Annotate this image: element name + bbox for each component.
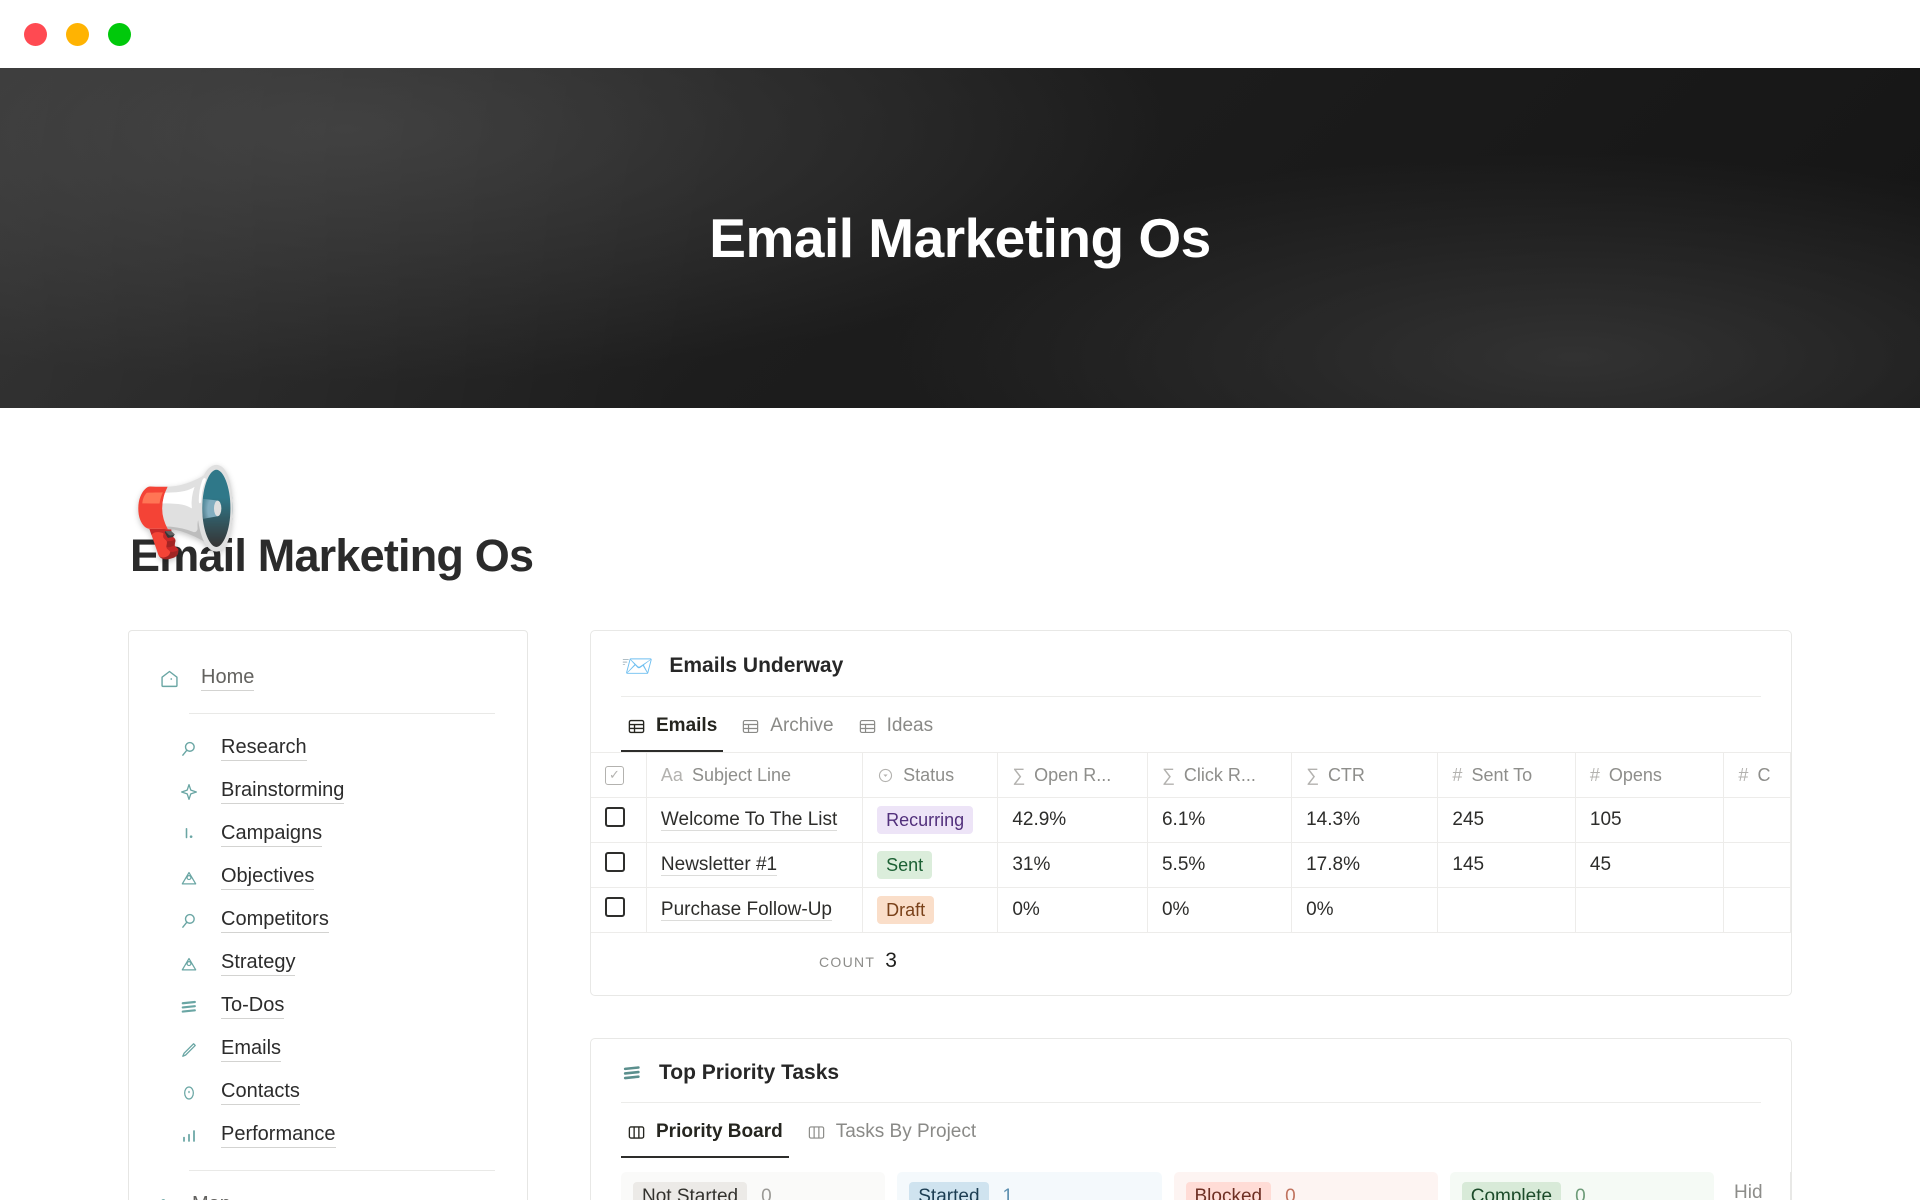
column-opens[interactable]: # Opens [1575,753,1724,798]
sidebar-item-emails[interactable]: Emails [149,1028,527,1071]
board-column-not-started[interactable]: Not Started 0 [621,1172,885,1200]
sidebar-item-brainstorming-label: Brainstorming [221,779,344,804]
cell-click-rate: 5.5% [1147,843,1291,888]
table-view-icon [858,717,877,736]
column-status-label: Status [903,765,954,786]
board-column-count: 1 [1003,1186,1014,1200]
emails-table-header-row: ✓ Aa Subject Line Status [591,753,1791,798]
number-type-icon: # [1590,765,1600,786]
sidebar-item-performance[interactable]: Performance [149,1114,527,1157]
checkbox-header-icon: ✓ [605,766,624,785]
sidebar-divider-bottom [189,1170,495,1171]
mountain-target-icon [178,953,200,975]
sidebar-item-research-label: Research [221,736,307,761]
sidebar-item-map[interactable]: Map [129,1184,527,1200]
main-column: 📨 Emails Underway Emails [590,630,1792,1200]
minimize-button[interactable] [66,23,89,46]
tab-ideas-label: Ideas [887,715,933,737]
status-badge: Recurring [877,806,973,835]
cell-opens [1575,888,1724,933]
page-cover-banner: Email Marketing Os [0,68,1920,408]
board-view-icon [807,1123,826,1142]
cell-sent-to [1438,888,1575,933]
table-view-icon [741,717,760,736]
column-ctr-label: CTR [1328,765,1365,786]
number-type-icon: # [1452,765,1462,786]
tasks-panel-title: Top Priority Tasks [659,1061,839,1085]
sidebar-item-to-dos[interactable]: To-Dos [149,985,527,1028]
column-subject-line-label: Subject Line [692,765,791,786]
tab-emails-label: Emails [656,715,717,737]
tab-tasks-by-project[interactable]: Tasks By Project [801,1113,982,1158]
sidebar-item-objectives[interactable]: Objectives [149,856,527,899]
board-column-count: 0 [761,1186,772,1200]
sidebar-item-performance-label: Performance [221,1123,336,1148]
sidebar-item-research[interactable]: Research [149,727,527,770]
board-hidden-label: Hid [1734,1182,1772,1200]
page-title: Email Marketing Os [130,530,1920,582]
contact-oval-icon [178,1082,200,1104]
formula-type-icon: ∑ [1012,765,1025,786]
sidebar-item-campaigns[interactable]: Campaigns [149,813,527,856]
route-pin-icon [149,1195,171,1200]
sidebar-item-map-label: Map [192,1193,231,1200]
column-status[interactable]: Status [863,753,998,798]
cell-sent-to: 145 [1438,843,1575,888]
cell-click-rate: 0% [1147,888,1291,933]
board-hidden-group[interactable]: Hid Ar [1726,1172,1772,1200]
cell-clipped [1724,888,1791,933]
sidebar-item-contacts[interactable]: Contacts [149,1071,527,1114]
navigation-sidebar: Home Research [128,630,528,1200]
banner-title: Email Marketing Os [709,206,1210,270]
count-value: 3 [885,949,897,973]
cell-click-rate: 6.1% [1147,798,1291,843]
tasks-panel-header: Top Priority Tasks [591,1039,1791,1085]
board-view-icon [627,1123,646,1142]
number-type-icon: # [1738,765,1748,786]
column-click-rate[interactable]: ∑ Click R... [1147,753,1291,798]
column-open-rate-label: Open R... [1034,765,1111,786]
window-titlebar [0,0,1920,68]
emails-panel-title: Emails Underway [669,654,843,678]
cell-status[interactable]: Sent [863,843,998,888]
stack-lines-icon [178,996,200,1018]
emails-table: ✓ Aa Subject Line Status [591,752,1791,933]
formula-type-icon: ∑ [1162,765,1175,786]
cell-open-rate: 31% [998,843,1148,888]
cell-subject[interactable]: Welcome To The List [646,798,862,843]
tab-archive[interactable]: Archive [735,707,839,752]
cell-status[interactable]: Recurring [863,798,998,843]
close-button[interactable] [24,23,47,46]
column-subject-line[interactable]: Aa Subject Line [646,753,862,798]
mountain-target-icon [178,867,200,889]
sidebar-item-competitors[interactable]: Competitors [149,899,527,942]
board-column-count: 0 [1575,1186,1586,1200]
magnifier-icon [178,910,200,932]
sparkle-icon [178,781,200,803]
cell-ctr: 17.8% [1292,843,1438,888]
cell-opens: 45 [1575,843,1724,888]
cell-open-rate: 42.9% [998,798,1148,843]
sidebar-item-home-label: Home [201,666,254,691]
board-column-started[interactable]: Started 1 [897,1172,1161,1200]
column-clipped-label: C [1757,765,1770,786]
zoom-button[interactable] [108,23,131,46]
column-opens-label: Opens [1609,765,1662,786]
tab-ideas[interactable]: Ideas [852,707,939,752]
priority-board: Not Started 0 Started 1 Blocked 0 [591,1158,1791,1200]
sidebar-item-contacts-label: Contacts [221,1080,300,1105]
board-right-divider [1790,1172,1791,1200]
cell-status[interactable]: Draft [863,888,998,933]
row-checkbox[interactable] [605,852,625,872]
megaphone-icon[interactable]: 📢 [132,470,239,556]
cell-ctr: 0% [1292,888,1438,933]
cell-clipped [1724,843,1791,888]
column-click-rate-label: Click R... [1184,765,1256,786]
board-column-chip: Complete [1462,1182,1561,1200]
board-column-count: 0 [1285,1186,1296,1200]
tab-archive-label: Archive [770,715,833,737]
tab-priority-board[interactable]: Priority Board [621,1113,789,1158]
column-sent-to[interactable]: # Sent To [1438,753,1575,798]
home-icon [158,668,180,690]
table-row[interactable]: Welcome To The List Recurring 42.9% 6.1%… [591,798,1791,843]
incoming-envelope-icon: 📨 [621,653,653,679]
megaphone-stroke-icon [178,824,200,846]
row-checkbox[interactable] [605,897,625,917]
sidebar-item-brainstorming[interactable]: Brainstorming [149,770,527,813]
sidebar-item-emails-label: Emails [221,1037,281,1062]
sidebar-divider-top [189,713,495,714]
cell-subject[interactable]: Purchase Follow-Up [646,888,862,933]
status-badge: Draft [877,896,934,925]
sidebar-item-campaigns-label: Campaigns [221,822,322,847]
tab-tasks-by-project-label: Tasks By Project [836,1121,976,1143]
board-column-chip: Not Started [633,1182,747,1200]
pencil-icon [178,1039,200,1061]
sidebar-item-to-dos-label: To-Dos [221,994,284,1019]
board-column-complete[interactable]: Complete 0 [1450,1172,1714,1200]
formula-type-icon: ∑ [1306,765,1319,786]
row-checkbox[interactable] [605,807,625,827]
cell-subject[interactable]: Newsletter #1 [646,843,862,888]
sidebar-item-home[interactable]: Home [129,657,527,700]
column-ctr[interactable]: ∑ CTR [1292,753,1438,798]
bar-chart-icon [178,1125,200,1147]
emails-underway-panel: 📨 Emails Underway Emails [590,630,1792,996]
cell-open-rate: 0% [998,888,1148,933]
magnifier-icon [178,738,200,760]
cell-clipped [1724,798,1791,843]
sidebar-item-objectives-label: Objectives [221,865,314,890]
column-clipped[interactable]: # C [1724,753,1791,798]
tab-priority-board-label: Priority Board [656,1121,783,1143]
tasks-view-tabs: Priority Board Tasks By Project [591,1103,1791,1158]
row-checkbox-cell[interactable] [591,798,646,843]
cell-sent-to: 245 [1438,798,1575,843]
table-view-icon [627,717,646,736]
emails-view-tabs: Emails Archive [591,697,1791,752]
status-badge: Sent [877,851,932,880]
sidebar-item-strategy-label: Strategy [221,951,295,976]
column-sent-to-label: Sent To [1471,765,1532,786]
page-body: 📢 Email Marketing Os Home [0,530,1920,1200]
board-column-blocked[interactable]: Blocked 0 [1174,1172,1438,1200]
tab-emails[interactable]: Emails [621,707,723,752]
cell-ctr: 14.3% [1292,798,1438,843]
page-columns: Home Research [128,630,1920,1200]
column-select-all[interactable]: ✓ [591,753,646,798]
cell-opens: 105 [1575,798,1724,843]
top-priority-tasks-panel: Top Priority Tasks Priority Board [590,1038,1792,1200]
select-type-icon [877,767,894,784]
sidebar-item-competitors-label: Competitors [221,908,329,933]
text-type-icon: Aa [661,765,683,786]
emails-table-footer[interactable]: Count 3 [591,933,1791,995]
board-column-chip: Started [909,1182,988,1200]
count-label: Count [819,954,875,970]
emails-panel-header: 📨 Emails Underway [591,631,1791,679]
column-open-rate[interactable]: ∑ Open R... [998,753,1148,798]
row-checkbox-cell[interactable] [591,843,646,888]
window-controls [24,23,131,46]
row-checkbox-cell[interactable] [591,888,646,933]
sidebar-items: Research Brainstorming [129,727,527,1157]
sidebar-item-strategy[interactable]: Strategy [149,942,527,985]
table-row[interactable]: Purchase Follow-Up Draft 0% 0% 0% [591,888,1791,933]
table-row[interactable]: Newsletter #1 Sent 31% 5.5% 17.8% 145 45 [591,843,1791,888]
stack-lines-icon [621,1062,643,1084]
board-column-chip: Blocked [1186,1182,1272,1200]
